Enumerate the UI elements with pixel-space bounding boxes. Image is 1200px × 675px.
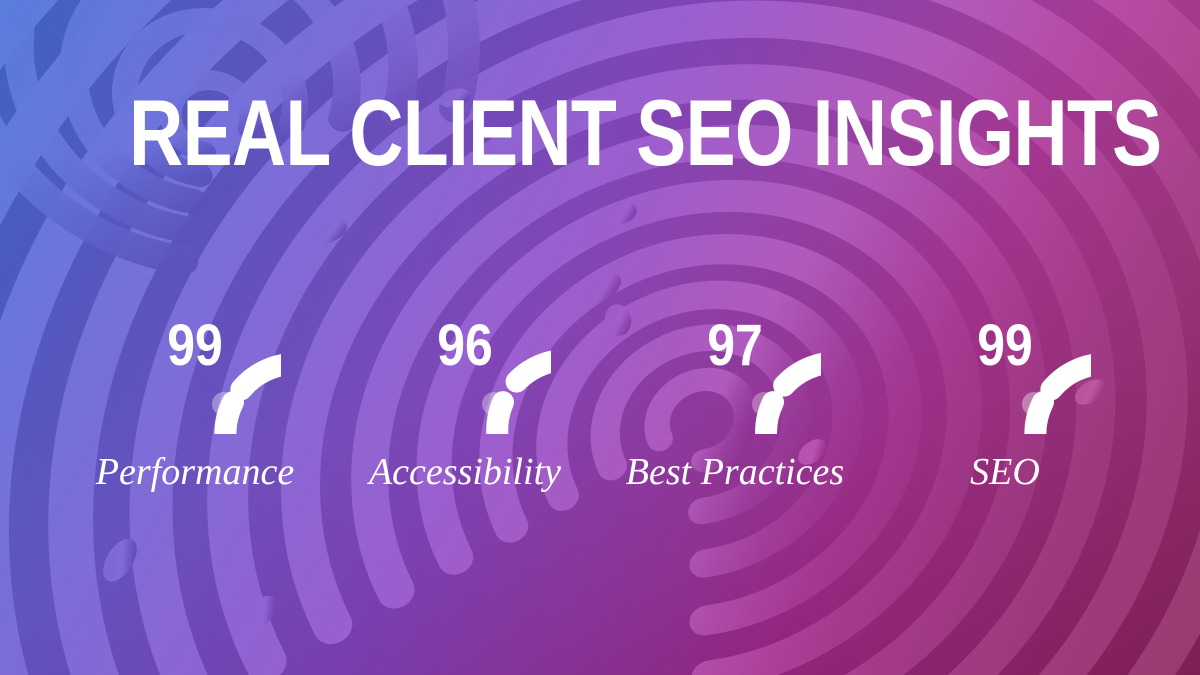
gauge-score-value: 96 xyxy=(391,260,539,432)
gauge-score-value: 99 xyxy=(931,260,1079,432)
gauge-best-practices: 97 xyxy=(649,262,821,434)
metric-gauge-row: 99 Performance 96 Accessibility xyxy=(0,262,1200,494)
metric-performance: 99 Performance xyxy=(60,262,330,494)
gauge-label: Accessibility xyxy=(369,452,561,494)
metric-accessibility: 96 Accessibility xyxy=(330,262,600,494)
metric-seo: 99 SEO xyxy=(870,262,1140,494)
gauge-score-value: 99 xyxy=(121,260,269,432)
gauge-performance: 99 xyxy=(109,262,281,434)
page-title-text: REAL CLIENT SEO INSIGHTS xyxy=(129,88,1161,177)
gauge-score-value: 97 xyxy=(661,260,809,432)
gauge-accessibility: 96 xyxy=(379,262,551,434)
seo-insights-banner: REAL CLIENT SEO INSIGHTS 99 Performance xyxy=(0,0,1200,675)
gauge-label: SEO xyxy=(970,452,1040,494)
gauge-seo: 99 xyxy=(919,262,1091,434)
gauge-label: Best Practices xyxy=(626,452,844,494)
metric-best-practices: 97 Best Practices xyxy=(600,262,870,494)
gauge-label: Performance xyxy=(96,452,294,494)
page-title: REAL CLIENT SEO INSIGHTS xyxy=(0,88,1200,177)
